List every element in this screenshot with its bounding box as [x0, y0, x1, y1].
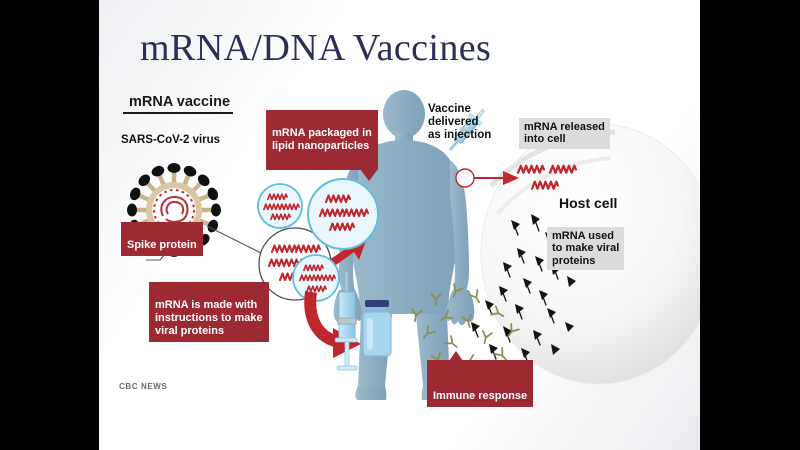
- callout-spike-protein-text: Spike protein: [127, 239, 197, 251]
- callout-pointer-up-icon: [449, 351, 463, 361]
- label-vaccine-delivered: Vaccine delivered as injection: [428, 103, 491, 142]
- callout-mrna-packaged-text: mRNA packaged in lipid nanoparticles: [272, 127, 372, 152]
- infographic: mRNA vaccine SARS-CoV-2 virus Spike prot…: [99, 86, 700, 416]
- slide-screenshot: mRNA/DNA Vaccines: [0, 0, 800, 450]
- section-heading: mRNA vaccine: [123, 94, 233, 114]
- lipid-nanoparticle-small-top: [258, 184, 302, 228]
- callout-mrna-packaged: mRNA packaged in lipid nanoparticles: [266, 110, 378, 170]
- label-mrna-used: mRNA used to make viral proteins: [547, 227, 624, 270]
- label-mrna-released: mRNA released into cell: [519, 118, 610, 149]
- lipid-nanoparticle-large: [308, 179, 378, 249]
- callout-mrna-made: mRNA is made with instructions to make v…: [149, 282, 269, 342]
- callout-mrna-made-text: mRNA is made with instructions to make v…: [155, 299, 263, 337]
- page-title: mRNA/DNA Vaccines: [140, 26, 491, 70]
- letterbox-left: [0, 0, 99, 450]
- callout-immune-response: Immune response: [427, 360, 533, 407]
- letterbox-right: [700, 0, 800, 450]
- callout-pointer-icon: [360, 169, 378, 181]
- label-host-cell: Host cell: [559, 196, 617, 212]
- callout-immune-response-text: Immune response: [433, 390, 527, 402]
- source-credit: CBC NEWS: [119, 382, 167, 391]
- callout-spike-protein: Spike protein: [121, 222, 203, 256]
- presentation-slide: mRNA/DNA Vaccines: [99, 0, 700, 450]
- label-sars-cov-2-virus: SARS-CoV-2 virus: [121, 134, 220, 147]
